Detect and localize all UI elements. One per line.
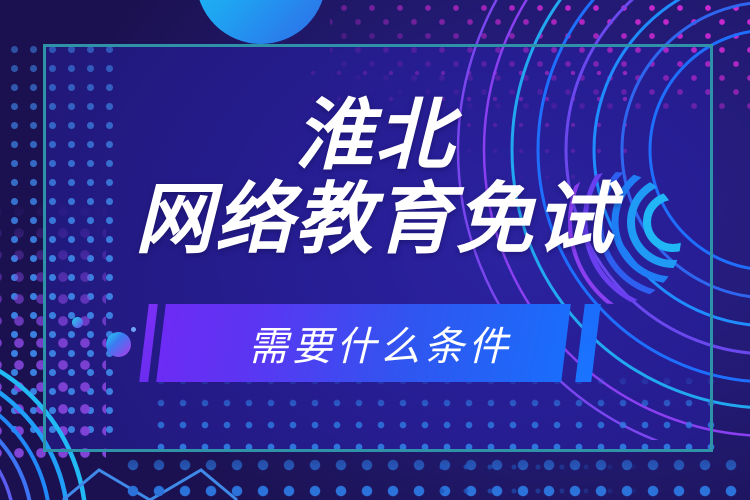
poster-canvas: 淮北 网络教育免试 需要什么条件 [0,0,750,500]
subtitle-text: 需要什么条件 [140,304,620,382]
gradient-circle-large-icon [106,332,131,357]
bottom-halftone-inner-icon [150,370,715,454]
gradient-circle-small-icon [72,317,83,328]
bottom-halftone-right-icon [430,455,750,500]
fingerprint-blob-icon [545,168,685,308]
gradient-dot-icon [131,327,136,332]
subtitle-ribbon: 需要什么条件 [140,304,620,382]
